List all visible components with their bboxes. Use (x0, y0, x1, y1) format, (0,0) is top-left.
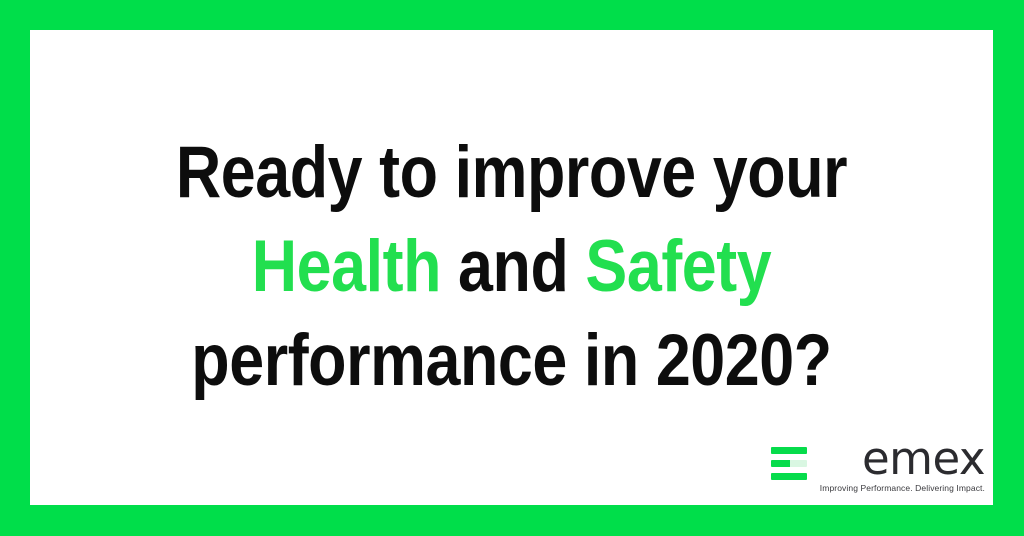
logo-bar-middle (771, 460, 807, 467)
logo-bar-middle-pale (790, 460, 807, 467)
emex-logo: emex Improving Performance. Delivering I… (771, 438, 985, 493)
logo-bar-bottom (771, 473, 807, 480)
white-content-card: Ready to improve your Health and Safety … (30, 30, 993, 505)
headline-line-3: performance in 2020? (97, 314, 925, 408)
headline-block: Ready to improve your Health and Safety … (30, 126, 993, 408)
logo-bar-middle-solid (771, 460, 790, 467)
headline-word-and: and (441, 226, 585, 307)
logo-tagline: Improving Performance. Delivering Impact… (820, 483, 985, 493)
logo-text-group: emex Improving Performance. Delivering I… (820, 438, 985, 493)
logo-wordmark: emex (862, 438, 985, 479)
logo-bar-top (771, 447, 807, 454)
headline-word-health: Health (252, 226, 441, 307)
emex-bars-mark-icon (771, 447, 807, 480)
headline-word-safety: Safety (585, 226, 771, 307)
promo-banner: Ready to improve your Health and Safety … (0, 0, 1024, 536)
headline-line-1: Ready to improve your (97, 126, 925, 220)
headline-line-2: Health and Safety (97, 220, 925, 314)
